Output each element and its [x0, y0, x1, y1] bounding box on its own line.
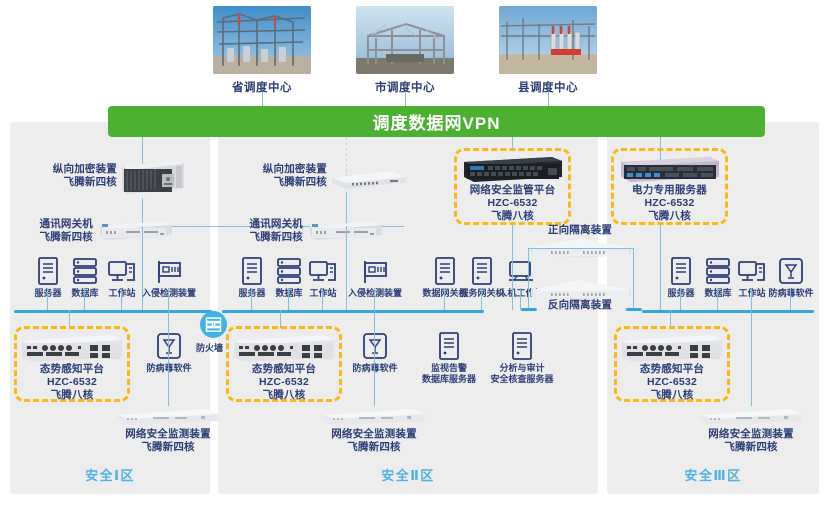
zone2-supervision-icon — [462, 155, 564, 183]
firewall-badge — [200, 311, 227, 338]
isolation-left-cap — [521, 308, 537, 311]
zone2-encryptor-icon — [330, 168, 408, 192]
alarm-db-server-icon — [417, 330, 481, 360]
zone2-audit-server: 分析与审计 安全核查服务器 — [486, 330, 558, 385]
intrusion-detection-icon — [348, 255, 402, 285]
zone2-bus-tick — [251, 288, 252, 310]
zone1-gateway-line2: 飞腾新四核 — [20, 231, 93, 244]
zone2-alarm-db-line1: 监视告警 — [417, 363, 481, 374]
zone2-alarm-db-server: 监视告警 数据库服务器 — [417, 330, 481, 385]
isolation-top-rail — [528, 248, 634, 249]
zone1-monitor-label: 网络安全监测装置 飞腾新四核 — [98, 428, 238, 454]
zone3-platform-line1: 态势感知平台 — [614, 363, 730, 376]
zone3-platform-line2: HZC-6532 — [614, 376, 730, 389]
zone2-gateway-line2: 飞腾新四核 — [230, 231, 303, 244]
zone2-bus-tick — [322, 288, 323, 310]
zone2-monitor-connector — [374, 310, 375, 406]
reverse-isolation-label: 反向隔离装置 — [520, 299, 640, 312]
antivirus-icon — [764, 255, 818, 285]
zone1-bus-tick — [121, 288, 122, 310]
zone2-bus-tick — [444, 288, 445, 310]
zone2-encryptor-label: 纵向加密装置 飞腾新四核 — [230, 163, 327, 189]
zone1-platform-line2: HZC-6532 — [14, 376, 130, 389]
workstation-icon — [95, 255, 149, 285]
zone1-bus-tick — [84, 288, 85, 310]
zone3-monitor-icon — [698, 406, 804, 426]
zone-label-2: 安全Ⅱ区 — [218, 465, 598, 484]
zone2-gateway-label: 通讯网关机 飞腾新四核 — [230, 218, 303, 244]
zone3-bus-drop — [670, 310, 671, 328]
zone2-supervision-line3: 飞腾八核 — [454, 210, 571, 223]
zone1-encryptor-label: 纵向加密装置 飞腾新四核 — [20, 163, 117, 189]
zone2-bus-drop — [280, 310, 281, 328]
zone1-bus — [14, 310, 212, 313]
zone3-monitor-label: 网络安全监测装置 飞腾新四核 — [681, 428, 821, 454]
zone1-encryptor-line2: 飞腾新四核 — [20, 176, 117, 189]
zone3-power-server-line3: 飞腾八核 — [611, 210, 728, 223]
zone2-platform-line1: 态势感知平台 — [226, 363, 342, 376]
connector-city-vpn — [405, 92, 406, 107]
audit-server-icon — [486, 330, 558, 360]
vpn-banner: 调度数据网VPN — [108, 106, 765, 137]
zone2-bus-tick — [288, 288, 289, 310]
zone1-monitor-line1: 网络安全监测装置 — [98, 428, 238, 441]
zone1-monitor-connector — [168, 310, 169, 406]
zone3-power-server-line2: HZC-6532 — [611, 197, 728, 210]
zone1-gateway-line1: 通讯网关机 — [20, 218, 93, 231]
zone1-bus-tick — [168, 288, 169, 310]
zone3-monitor-connector — [751, 310, 752, 406]
zone2-gateway-icon — [306, 218, 384, 242]
zone1-bus-drop — [69, 310, 70, 328]
zone2-bus — [222, 310, 484, 313]
zone3-bus-tick — [680, 288, 681, 310]
zone1-monitor-line2: 飞腾新四核 — [98, 441, 238, 454]
zone1-encryptor-line1: 纵向加密装置 — [20, 163, 117, 176]
isolation-right-rail — [633, 248, 634, 310]
firewall-label: 防火墙 — [196, 341, 223, 354]
zone2-encryptor-line2: 飞腾新四核 — [230, 176, 327, 189]
forward-isolation-text: 正向隔离装置 — [548, 224, 612, 236]
top-node-county: 县调度中心 — [499, 6, 597, 95]
zone2-supervision-label: 网络安全监管平台 HZC-6532 飞腾八核 — [454, 184, 571, 223]
zone3-bus-tick — [790, 288, 791, 310]
zone3-bus — [642, 310, 814, 313]
zone2-audit-line1: 分析与审计 — [486, 363, 558, 374]
zone2-monitor-icon — [321, 406, 427, 426]
connector-county-vpn — [548, 92, 549, 107]
isolation-left-rail — [528, 248, 529, 310]
zone2-supervision-drop — [512, 225, 513, 310]
zone2-bus-tick — [374, 288, 375, 310]
zone1-platform-line1: 态势感知平台 — [14, 363, 130, 376]
substation-photo-icon — [356, 6, 454, 74]
zone1-platform-line3: 飞腾八核 — [14, 389, 130, 402]
isolation-right-cap — [626, 308, 642, 311]
zone2-alarm-db-line2: 数据库服务器 — [417, 374, 481, 385]
zone-label-3: 安全Ⅲ区 — [607, 465, 819, 484]
zone1-monitor-icon — [115, 406, 221, 426]
zone3-power-server-icon — [619, 155, 721, 183]
zone3-platform-line3: 飞腾八核 — [614, 389, 730, 402]
zone3-bus-tick — [751, 288, 752, 310]
zone2-supervision-connector — [512, 137, 513, 149]
intrusion-detection-icon — [142, 255, 196, 285]
network-architecture-diagram: 省调度中心 市调度中心 — [0, 0, 829, 519]
zone2-monitor-label: 网络安全监测装置 飞腾新四核 — [304, 428, 444, 454]
zone-label-1: 安全Ⅰ区 — [10, 465, 210, 484]
zone2-encryptor-line1: 纵向加密装置 — [230, 163, 327, 176]
zone3-power-server-label: 电力专用服务器 HZC-6532 飞腾八核 — [611, 184, 728, 223]
substation-photo-icon — [499, 6, 597, 74]
zone2-audit-line2: 安全核查服务器 — [486, 374, 558, 385]
workstation-icon — [296, 255, 350, 285]
connector-province-vpn — [262, 92, 263, 107]
zone1-encryptor-icon — [118, 158, 186, 198]
zone2-platform-label: 态势感知平台 HZC-6532 飞腾八核 — [226, 363, 342, 402]
zone3-monitor-line1: 网络安全监测装置 — [681, 428, 821, 441]
zone3-platform-icon — [620, 333, 724, 363]
zone2-platform-line3: 飞腾八核 — [226, 389, 342, 402]
zone2-platform-line2: HZC-6532 — [226, 376, 342, 389]
reverse-isolation-text: 反向隔离装置 — [548, 299, 612, 311]
zone1-platform-icon — [20, 333, 124, 363]
zone1-gateway-label: 通讯网关机 飞腾新四核 — [20, 218, 93, 244]
vpn-title: 调度数据网VPN — [373, 109, 501, 134]
zone2-platform-icon — [232, 333, 336, 363]
firewall-icon — [205, 316, 222, 333]
zone2-bus-tick — [481, 288, 482, 310]
zone2-gateway-line1: 通讯网关机 — [230, 218, 303, 231]
top-node-city: 市调度中心 — [356, 6, 454, 95]
zone1-platform-label: 态势感知平台 HZC-6532 飞腾八核 — [14, 363, 130, 402]
zone2-supervision-line1: 网络安全监管平台 — [454, 184, 571, 197]
zone3-monitor-line2: 飞腾新四核 — [681, 441, 821, 454]
zone1-bus-tick — [47, 288, 48, 310]
zone1-gateway-icon — [96, 218, 174, 242]
substation-photo-icon — [213, 6, 311, 74]
zone2-monitor-line2: 飞腾新四核 — [304, 441, 444, 454]
zone3-platform-label: 态势感知平台 HZC-6532 飞腾八核 — [614, 363, 730, 402]
zone3-bus-tick — [717, 288, 718, 310]
zone2-monitor-line1: 网络安全监测装置 — [304, 428, 444, 441]
zone3-power-server-line1: 电力专用服务器 — [611, 184, 728, 197]
zone2-supervision-line2: HZC-6532 — [454, 197, 571, 210]
top-node-province: 省调度中心 — [213, 6, 311, 95]
